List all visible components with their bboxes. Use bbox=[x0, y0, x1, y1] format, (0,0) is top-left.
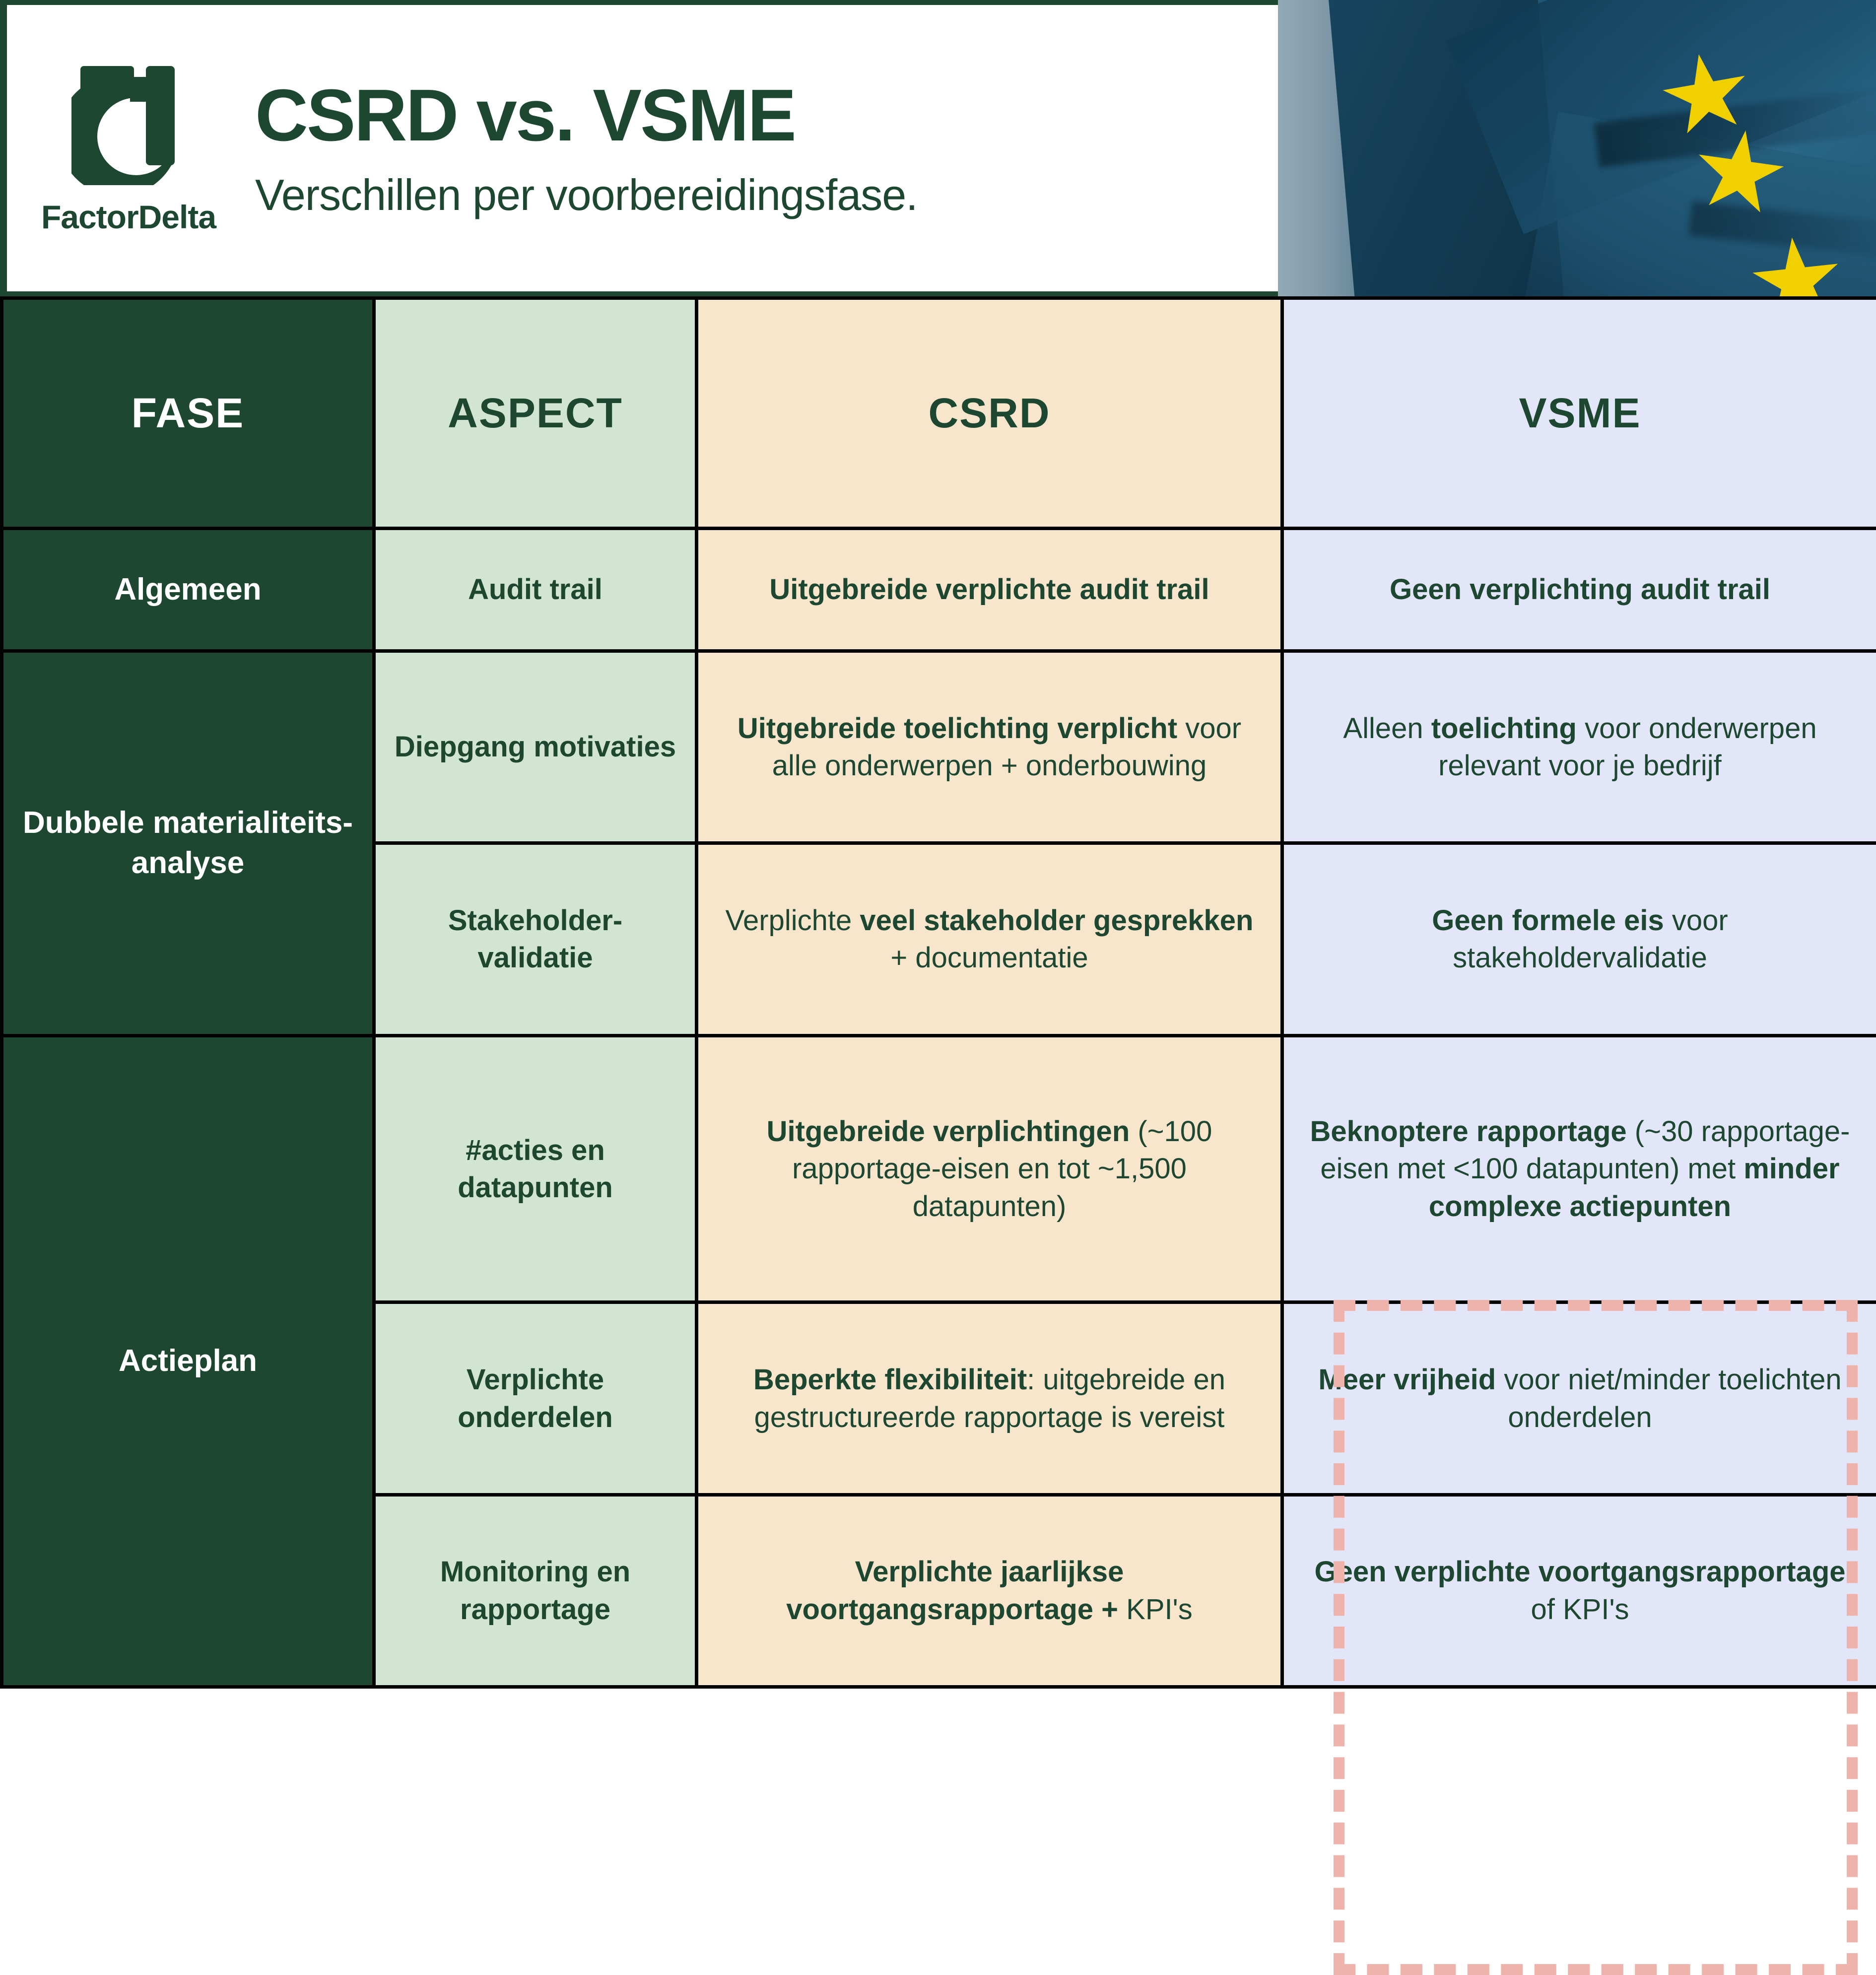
header-card: FactorDelta CSRD vs. VSME Verschillen pe… bbox=[7, 5, 1278, 291]
csrd-cell: Uitgebreide verplichte audit trail bbox=[697, 529, 1282, 651]
csrd-cell: Uitgebreide verplichtingen (~100 rapport… bbox=[697, 1035, 1282, 1302]
eu-flag-photo bbox=[1278, 0, 1876, 296]
table-row: Algemeen Audit trail Uitgebreide verplic… bbox=[2, 529, 1876, 651]
column-header-fase: FASE bbox=[2, 298, 374, 529]
aspect-cell: Monitoring en rapportage bbox=[374, 1495, 697, 1687]
vsme-cell: Alleen toelichting voor onderwerpen rele… bbox=[1282, 651, 1876, 843]
table-header-row: FASE ASPECT CSRD VSME bbox=[2, 298, 1876, 529]
header-band: FactorDelta CSRD vs. VSME Verschillen pe… bbox=[0, 0, 1876, 296]
csrd-vsme-comparison-table: FASE ASPECT CSRD VSME Algemeen Audit tra… bbox=[0, 296, 1876, 1689]
aspect-cell: Verplichte onderdelen bbox=[374, 1302, 697, 1495]
column-header-vsme: VSME bbox=[1282, 298, 1876, 529]
phase-cell-actieplan: Actieplan bbox=[2, 1035, 374, 1687]
csrd-cell: Verplichte veel stakeholder gesprekken +… bbox=[697, 843, 1282, 1035]
page-subtitle: Verschillen per voorbereidingsfase. bbox=[255, 171, 1278, 219]
vsme-cell: Geen formele eis voor stakeholdervalidat… bbox=[1282, 843, 1876, 1035]
comparison-table-wrap: FASE ASPECT CSRD VSME Algemeen Audit tra… bbox=[0, 296, 1876, 1689]
title-block: CSRD vs. VSME Verschillen per voorbereid… bbox=[250, 77, 1278, 219]
csrd-cell: Uitgebreide toelichting verplicht voor a… bbox=[697, 651, 1282, 843]
phase-cell-dubbele-materialiteitsanalyse: Dubbele materialiteits-analyse bbox=[2, 651, 374, 1036]
aspect-cell: #acties en datapunten bbox=[374, 1035, 697, 1302]
vsme-cell: Beknoptere rapportage (~30 rapportage-ei… bbox=[1282, 1035, 1876, 1302]
aspect-cell: Diepgang motivaties bbox=[374, 651, 697, 843]
vsme-cell: Meer vrijheid voor niet/minder toelichte… bbox=[1282, 1302, 1876, 1495]
csrd-cell: Beperkte flexibiliteit: uitgebreide en g… bbox=[697, 1302, 1282, 1495]
brand-name: FactorDelta bbox=[41, 198, 216, 236]
factordelta-d-mark-icon bbox=[71, 61, 186, 185]
phase-cell-algemeen: Algemeen bbox=[2, 529, 374, 651]
page-title: CSRD vs. VSME bbox=[255, 77, 1278, 154]
table-row: Dubbele materialiteits-analyse Diepgang … bbox=[2, 651, 1876, 843]
brand-logo: FactorDelta bbox=[7, 61, 250, 236]
column-header-csrd: CSRD bbox=[697, 298, 1282, 529]
aspect-cell: Stakeholder-validatie bbox=[374, 843, 697, 1035]
vsme-cell: Geen verplichte voortgangsrapportage of … bbox=[1282, 1495, 1876, 1687]
vsme-cell: Geen verplichting audit trail bbox=[1282, 529, 1876, 651]
column-header-aspect: ASPECT bbox=[374, 298, 697, 529]
infographic-page: FactorDelta CSRD vs. VSME Verschillen pe… bbox=[0, 0, 1876, 1689]
csrd-cell: Verplichte jaarlijkse voortgangsrapporta… bbox=[697, 1495, 1282, 1687]
aspect-cell: Audit trail bbox=[374, 529, 697, 651]
table-row: Actieplan #acties en datapunten Uitgebre… bbox=[2, 1035, 1876, 1302]
